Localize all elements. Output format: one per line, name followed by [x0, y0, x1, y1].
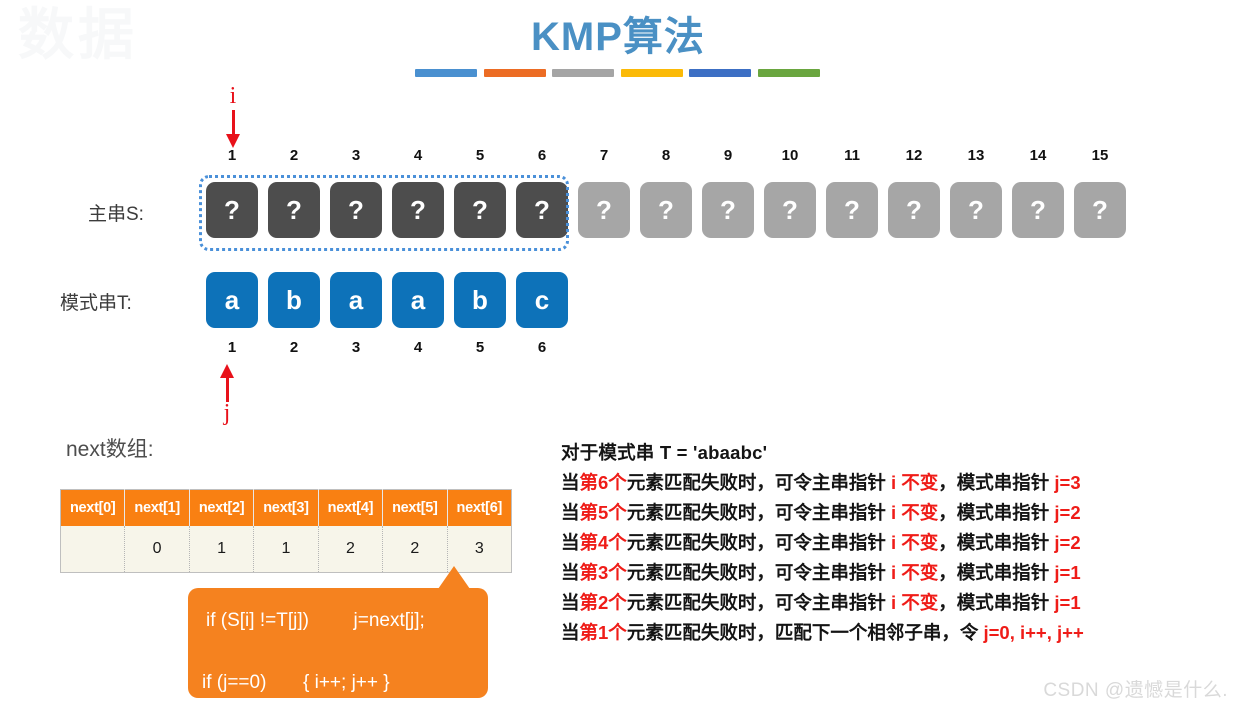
next-header-5: next[5] — [383, 490, 447, 527]
line-nth: 第2个 — [580, 592, 627, 613]
main-string-cell-11: ? — [826, 182, 878, 238]
next-array-label: next数组: — [66, 433, 154, 463]
main-index-1: 1 — [206, 147, 258, 164]
explanation-header: 对于模式串 T = 'abaabc' — [561, 438, 1231, 468]
line-tail: ，模式串指针 — [938, 532, 1054, 553]
main-index-8: 8 — [640, 147, 692, 164]
main-string-cell-1: ? — [206, 182, 258, 238]
pattern-string-cell-1: a — [206, 272, 258, 328]
main-string-cell-9: ? — [702, 182, 754, 238]
line-keep: i 不变 — [891, 472, 938, 493]
line-mid: 元素匹配失败时，可令主串指针 — [627, 502, 891, 523]
next-value-1: 0 — [125, 526, 189, 573]
kmp-slide: 数据 KMP算法 i 123456789101112131415 主串S: ??… — [0, 0, 1236, 708]
line-mid: 元素匹配失败时，匹配下一个相邻子串，令 — [627, 622, 984, 643]
explanation-line-5: 当第2个元素匹配失败时，可令主串指针 i 不变，模式串指针 j=1 — [561, 588, 1231, 618]
callout-line1-condition: if (S[i] !=T[j]) — [206, 610, 309, 631]
line-prefix: 当 — [561, 472, 580, 493]
main-index-14: 14 — [1012, 147, 1064, 164]
csdn-watermark: CSDN @遗憾是什么. — [1043, 675, 1228, 702]
page-title: KMP算法 — [0, 4, 1236, 62]
main-index-15: 15 — [1074, 147, 1126, 164]
pointer-j-label: j — [212, 402, 242, 424]
line-mid: 元素匹配失败时，可令主串指针 — [627, 592, 891, 613]
main-index-6: 6 — [516, 147, 568, 164]
callout-line1-action: j=next[j]; — [354, 610, 425, 631]
main-string-cell-12: ? — [888, 182, 940, 238]
next-array-table: next[0]next[1]next[2]next[3]next[4]next[… — [60, 489, 512, 573]
pattern-index-4: 4 — [392, 339, 444, 356]
line-keep: i 不变 — [891, 592, 938, 613]
explanation-line-2: 当第5个元素匹配失败时，可令主串指针 i 不变，模式串指针 j=2 — [561, 498, 1231, 528]
next-header-4: next[4] — [318, 490, 382, 527]
arrow-up-icon — [212, 364, 242, 402]
pattern-index-5: 5 — [454, 339, 506, 356]
line-jvalue: j=2 — [1054, 532, 1080, 553]
pointer-i: i — [218, 84, 248, 148]
main-string-cell-7: ? — [578, 182, 630, 238]
line-tail: ，模式串指针 — [938, 562, 1054, 583]
next-header-0: next[0] — [61, 490, 125, 527]
pattern-string-cell-4: a — [392, 272, 444, 328]
main-index-13: 13 — [950, 147, 1002, 164]
pattern-string-cell-5: b — [454, 272, 506, 328]
line-keep: i 不变 — [891, 532, 938, 553]
pattern-index-1: 1 — [206, 339, 258, 356]
main-string-index-row: 123456789101112131415 — [206, 147, 1136, 164]
code-callout: if (S[i] !=T[j]) j=next[j]; if (j==0) { … — [188, 588, 488, 698]
callout-line-2: if (j==0) { i++; j++ } — [202, 672, 390, 694]
line-tail: ，模式串指针 — [938, 472, 1054, 493]
next-header-2: next[2] — [189, 490, 253, 527]
line-mid: 元素匹配失败时，可令主串指针 — [627, 532, 891, 553]
main-index-12: 12 — [888, 147, 940, 164]
line-nth: 第5个 — [580, 502, 627, 523]
title-decoration-bars — [415, 69, 820, 77]
title-bar-1 — [415, 69, 477, 77]
explanation-line-4: 当第3个元素匹配失败时，可令主串指针 i 不变，模式串指针 j=1 — [561, 558, 1231, 588]
main-string-label: 主串S: — [88, 199, 144, 226]
main-string-cell-4: ? — [392, 182, 444, 238]
arrow-down-icon — [218, 110, 248, 148]
line-prefix: 当 — [561, 532, 580, 553]
pattern-index-2: 2 — [268, 339, 320, 356]
main-index-3: 3 — [330, 147, 382, 164]
main-index-9: 9 — [702, 147, 754, 164]
line-jvalue: j=1 — [1054, 592, 1080, 613]
main-string-cells: ??????????????? — [206, 182, 1136, 238]
line-prefix: 当 — [561, 502, 580, 523]
pointer-i-label: i — [218, 84, 248, 108]
callout-line2-action: { i++; j++ } — [303, 672, 390, 693]
pattern-index-6: 6 — [516, 339, 568, 356]
main-string-cell-3: ? — [330, 182, 382, 238]
line-keep: i 不变 — [891, 562, 938, 583]
callout-line-1: if (S[i] !=T[j]) j=next[j]; — [206, 610, 425, 632]
line-mid: 元素匹配失败时，可令主串指针 — [627, 472, 891, 493]
title-bar-3 — [552, 69, 614, 77]
line-keep: i 不变 — [891, 502, 938, 523]
main-string-cell-10: ? — [764, 182, 816, 238]
line-jvalue: j=2 — [1054, 502, 1080, 523]
main-string-cell-6: ? — [516, 182, 568, 238]
main-index-10: 10 — [764, 147, 816, 164]
main-index-4: 4 — [392, 147, 444, 164]
callout-pointer-icon — [438, 566, 470, 589]
title-bar-2 — [484, 69, 546, 77]
pattern-string-index-row: 123456 — [206, 339, 578, 356]
main-string-cell-5: ? — [454, 182, 506, 238]
explanation-line-3: 当第4个元素匹配失败时，可令主串指针 i 不变，模式串指针 j=2 — [561, 528, 1231, 558]
main-string-cell-13: ? — [950, 182, 1002, 238]
line-mid: 元素匹配失败时，可令主串指针 — [627, 562, 891, 583]
main-string-cell-2: ? — [268, 182, 320, 238]
main-index-5: 5 — [454, 147, 506, 164]
pattern-string-cells: abaabc — [206, 272, 578, 328]
title-bar-5 — [689, 69, 751, 77]
main-string-cell-15: ? — [1074, 182, 1126, 238]
line-nth: 第6个 — [580, 472, 627, 493]
explanation-line-1: 当第6个元素匹配失败时，可令主串指针 i 不变，模式串指针 j=3 — [561, 468, 1231, 498]
explanation-line-6: 当第1个元素匹配失败时，匹配下一个相邻子串，令 j=0, i++, j++ — [561, 618, 1231, 648]
pointer-j: j — [212, 364, 242, 424]
main-string-cell-14: ? — [1012, 182, 1064, 238]
next-value-4: 2 — [318, 526, 382, 573]
line-prefix: 当 — [561, 562, 580, 583]
next-value-2: 1 — [189, 526, 253, 573]
next-header-6: next[6] — [447, 490, 511, 527]
title-bar-6 — [758, 69, 820, 77]
line-prefix: 当 — [561, 592, 580, 613]
next-header-3: next[3] — [254, 490, 318, 527]
callout-line2-condition: if (j==0) — [202, 672, 266, 693]
line-tail: ，模式串指针 — [938, 592, 1054, 613]
line-nth: 第3个 — [580, 562, 627, 583]
line-tail: ，模式串指针 — [938, 502, 1054, 523]
next-array-header-row: next[0]next[1]next[2]next[3]next[4]next[… — [61, 490, 512, 527]
line-nth: 第4个 — [580, 532, 627, 553]
line-nth: 第1个 — [580, 622, 627, 643]
next-value-0 — [61, 526, 125, 573]
pattern-index-3: 3 — [330, 339, 382, 356]
pattern-string-label: 模式串T: — [60, 288, 132, 315]
line-jvalue: j=0, i++, j++ — [983, 622, 1083, 643]
main-string-cell-8: ? — [640, 182, 692, 238]
next-header-1: next[1] — [125, 490, 189, 527]
pattern-string-cell-6: c — [516, 272, 568, 328]
line-prefix: 当 — [561, 622, 580, 643]
next-value-3: 1 — [254, 526, 318, 573]
main-index-7: 7 — [578, 147, 630, 164]
main-index-11: 11 — [826, 147, 878, 164]
line-jvalue: j=3 — [1054, 472, 1080, 493]
line-jvalue: j=1 — [1054, 562, 1080, 583]
main-index-2: 2 — [268, 147, 320, 164]
pattern-string-cell-2: b — [268, 272, 320, 328]
title-bar-4 — [621, 69, 683, 77]
pattern-string-cell-3: a — [330, 272, 382, 328]
explanation-lines: 当第6个元素匹配失败时，可令主串指针 i 不变，模式串指针 j=3当第5个元素匹… — [561, 468, 1231, 648]
explanation-block: 对于模式串 T = 'abaabc' 当第6个元素匹配失败时，可令主串指针 i … — [561, 438, 1231, 648]
